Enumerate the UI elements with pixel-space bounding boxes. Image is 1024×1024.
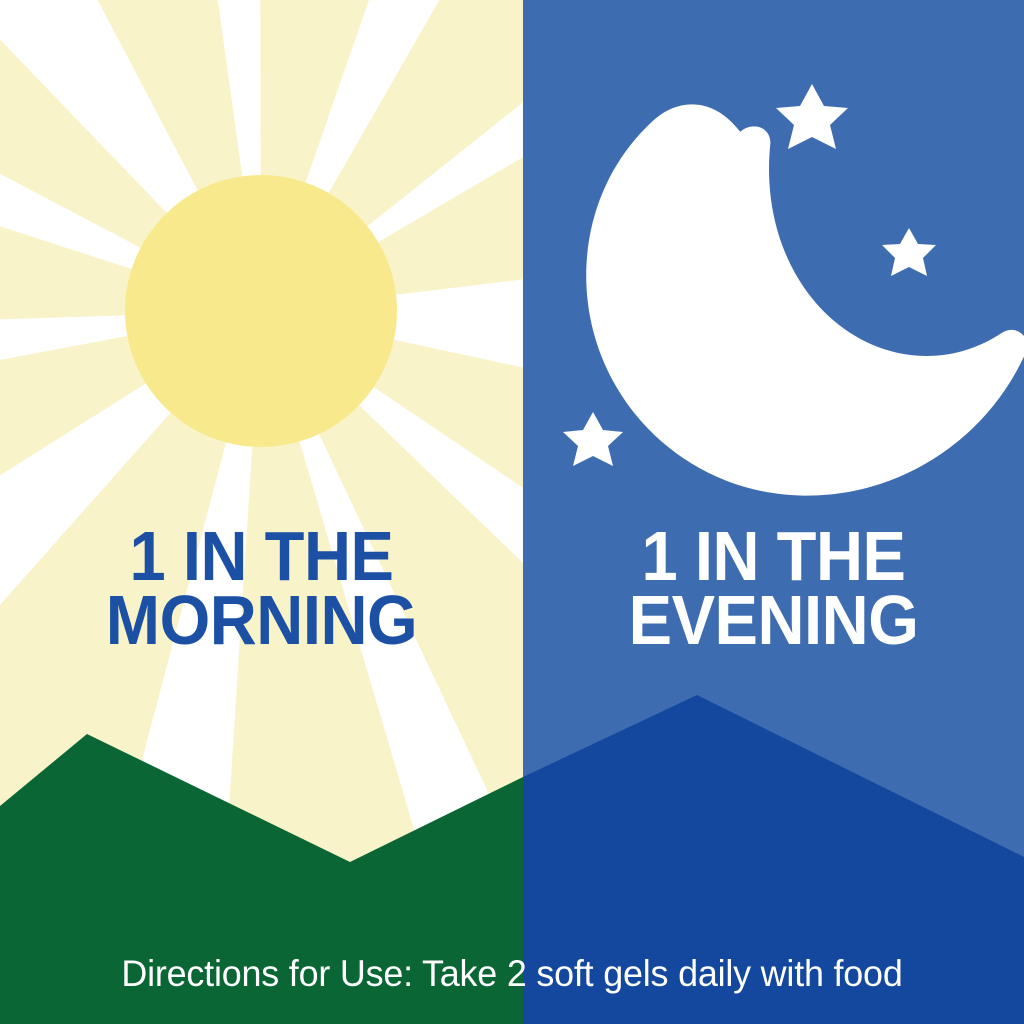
directions-band: Directions for Use: Take 2 soft gels dai… [0, 924, 1024, 1024]
evening-headline: 1 IN THE EVENING [541, 524, 1007, 652]
directions-for-use-text: Directions for Use: Take 2 soft gels dai… [15, 924, 1008, 1024]
night-panel: 1 IN THE EVENING [523, 0, 1024, 1024]
dosing-instructions-graphic: 1 IN THE MORNING 1 IN THE EVENING Direct… [0, 0, 1024, 1024]
day-panel: 1 IN THE MORNING [0, 0, 523, 1024]
green-mountain [0, 0, 523, 1024]
morning-headline: 1 IN THE MORNING [18, 524, 504, 652]
blue-mountain [523, 0, 1024, 1024]
